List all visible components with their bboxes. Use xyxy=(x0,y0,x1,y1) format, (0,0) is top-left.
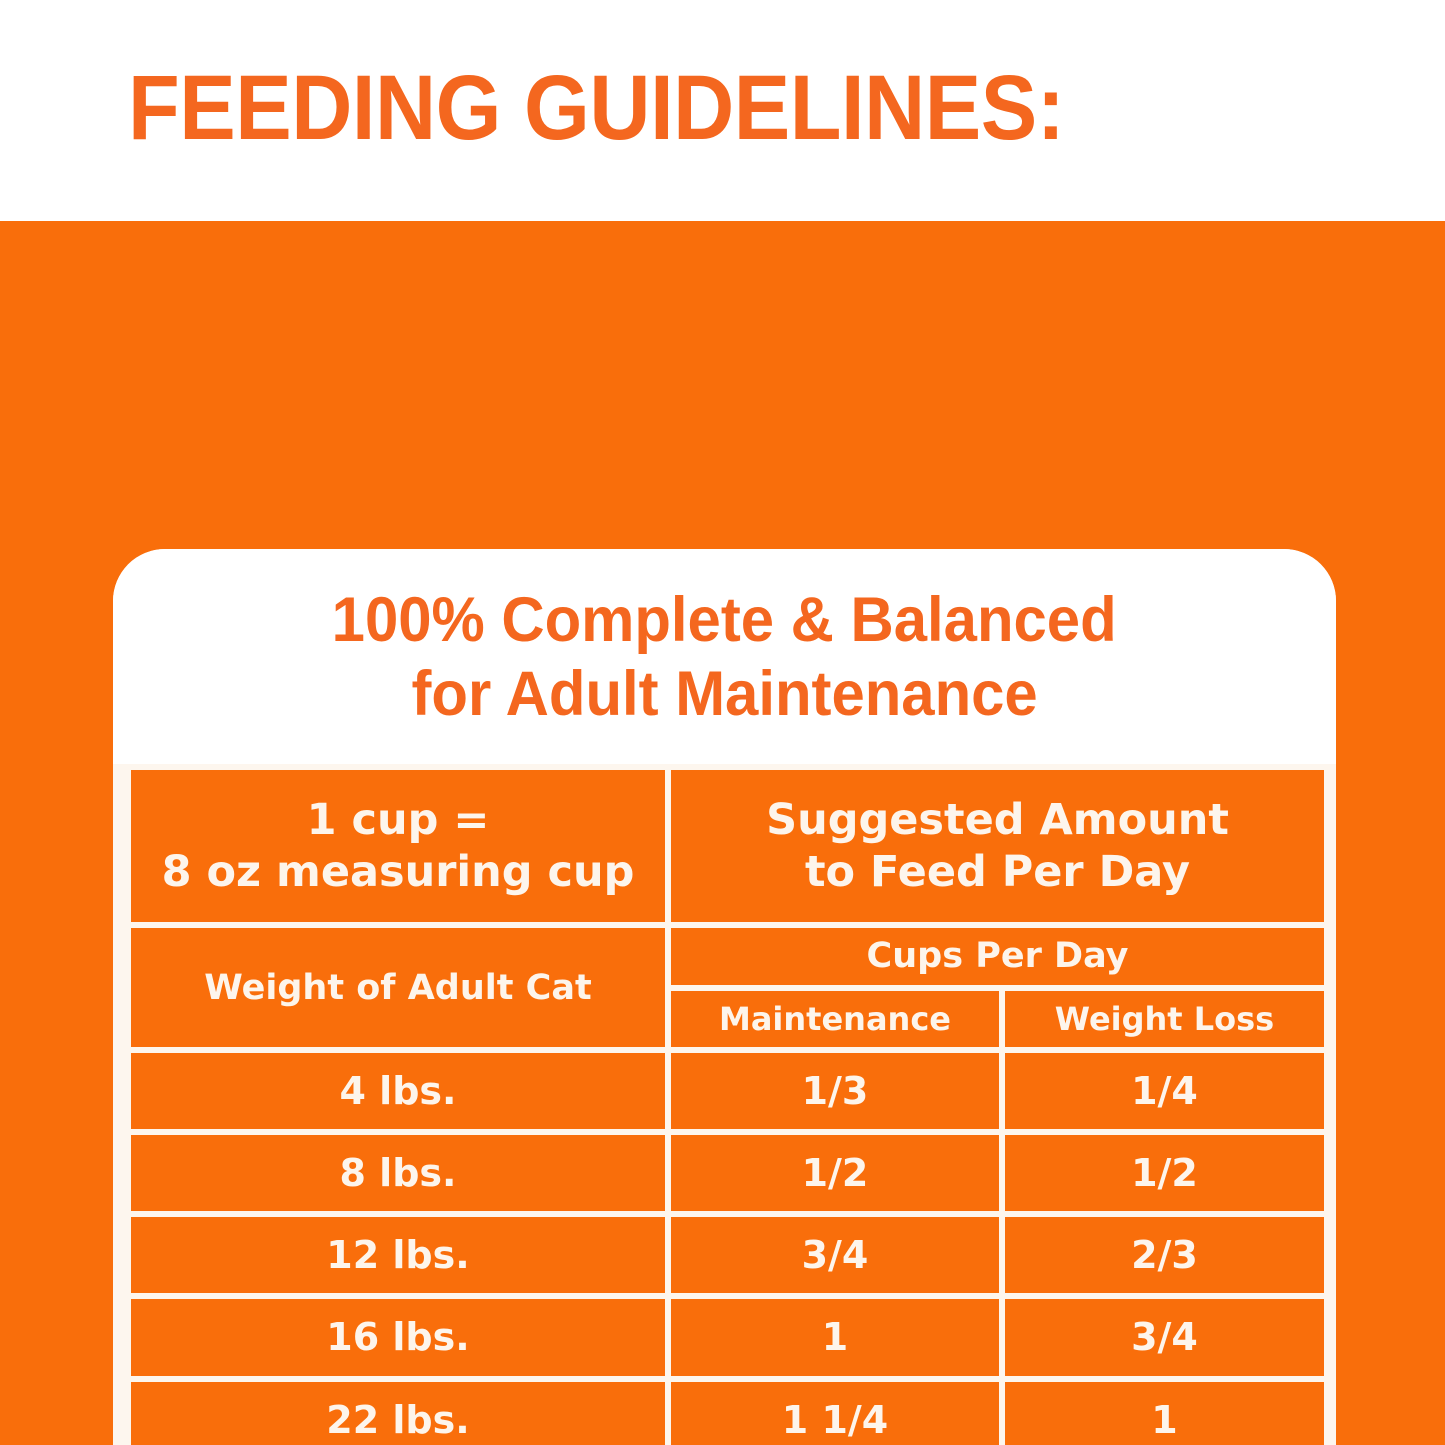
table-row: 22 lbs. 1 1/4 1 xyxy=(131,1382,1324,1445)
table-row: 16 lbs. 1 3/4 xyxy=(131,1299,1324,1375)
feeding-guidelines-page: FEEDING GUIDELINES: 100% Complete & Bala… xyxy=(0,0,1445,1445)
table-row: 12 lbs. 3/4 2/3 xyxy=(131,1217,1324,1293)
page-title: FEEDING GUIDELINES: xyxy=(128,58,1140,158)
feeding-table-wrapper: 1 cup = 8 oz measuring cup Suggested Amo… xyxy=(125,764,1324,1445)
cell-maintenance: 1/3 xyxy=(671,1053,999,1129)
card-heading: 100% Complete & Balanced for Adult Maint… xyxy=(113,549,1336,764)
cell-weight: 4 lbs. xyxy=(131,1053,665,1129)
top-white-band: FEEDING GUIDELINES: xyxy=(0,0,1445,221)
cell-weight-loss: 3/4 xyxy=(1005,1299,1324,1375)
table-row: 8 lbs. 1/2 1/2 xyxy=(131,1135,1324,1211)
card-heading-line-1: 100% Complete & Balanced xyxy=(332,583,1117,657)
cell-weight: 12 lbs. xyxy=(131,1217,665,1293)
cell-weight-loss: 1 xyxy=(1005,1382,1324,1445)
header-cup-definition: 1 cup = 8 oz measuring cup xyxy=(131,770,665,922)
cell-weight-loss: 2/3 xyxy=(1005,1217,1324,1293)
orange-background: 100% Complete & Balanced for Adult Maint… xyxy=(0,221,1445,1445)
header-weight-of-adult-cat: Weight of Adult Cat xyxy=(131,928,665,1046)
cell-maintenance: 1/2 xyxy=(671,1135,999,1211)
guidelines-card: 100% Complete & Balanced for Adult Maint… xyxy=(113,549,1336,1445)
header-suggested-amount-line-1: Suggested Amount xyxy=(671,794,1324,846)
header-maintenance: Maintenance xyxy=(671,991,999,1047)
table-header-row-cups: Weight of Adult Cat Cups Per Day xyxy=(131,928,1324,984)
header-cup-definition-line-2: 8 oz measuring cup xyxy=(131,846,665,898)
cell-maintenance: 1 xyxy=(671,1299,999,1375)
cell-weight: 8 lbs. xyxy=(131,1135,665,1211)
header-suggested-amount: Suggested Amount to Feed Per Day xyxy=(671,770,1324,922)
table-row: 4 lbs. 1/3 1/4 xyxy=(131,1053,1324,1129)
feeding-table: 1 cup = 8 oz measuring cup Suggested Amo… xyxy=(125,764,1330,1445)
cell-maintenance: 1 1/4 xyxy=(671,1382,999,1445)
table-header-row-top: 1 cup = 8 oz measuring cup Suggested Amo… xyxy=(131,770,1324,922)
cell-weight: 16 lbs. xyxy=(131,1299,665,1375)
header-cups-per-day: Cups Per Day xyxy=(671,928,1324,984)
header-weight-loss: Weight Loss xyxy=(1005,991,1324,1047)
cell-weight-loss: 1/2 xyxy=(1005,1135,1324,1211)
card-heading-line-2: for Adult Maintenance xyxy=(411,657,1037,731)
header-suggested-amount-line-2: to Feed Per Day xyxy=(671,846,1324,898)
cell-weight: 22 lbs. xyxy=(131,1382,665,1445)
cell-maintenance: 3/4 xyxy=(671,1217,999,1293)
cell-weight-loss: 1/4 xyxy=(1005,1053,1324,1129)
header-cup-definition-line-1: 1 cup = xyxy=(131,794,665,846)
